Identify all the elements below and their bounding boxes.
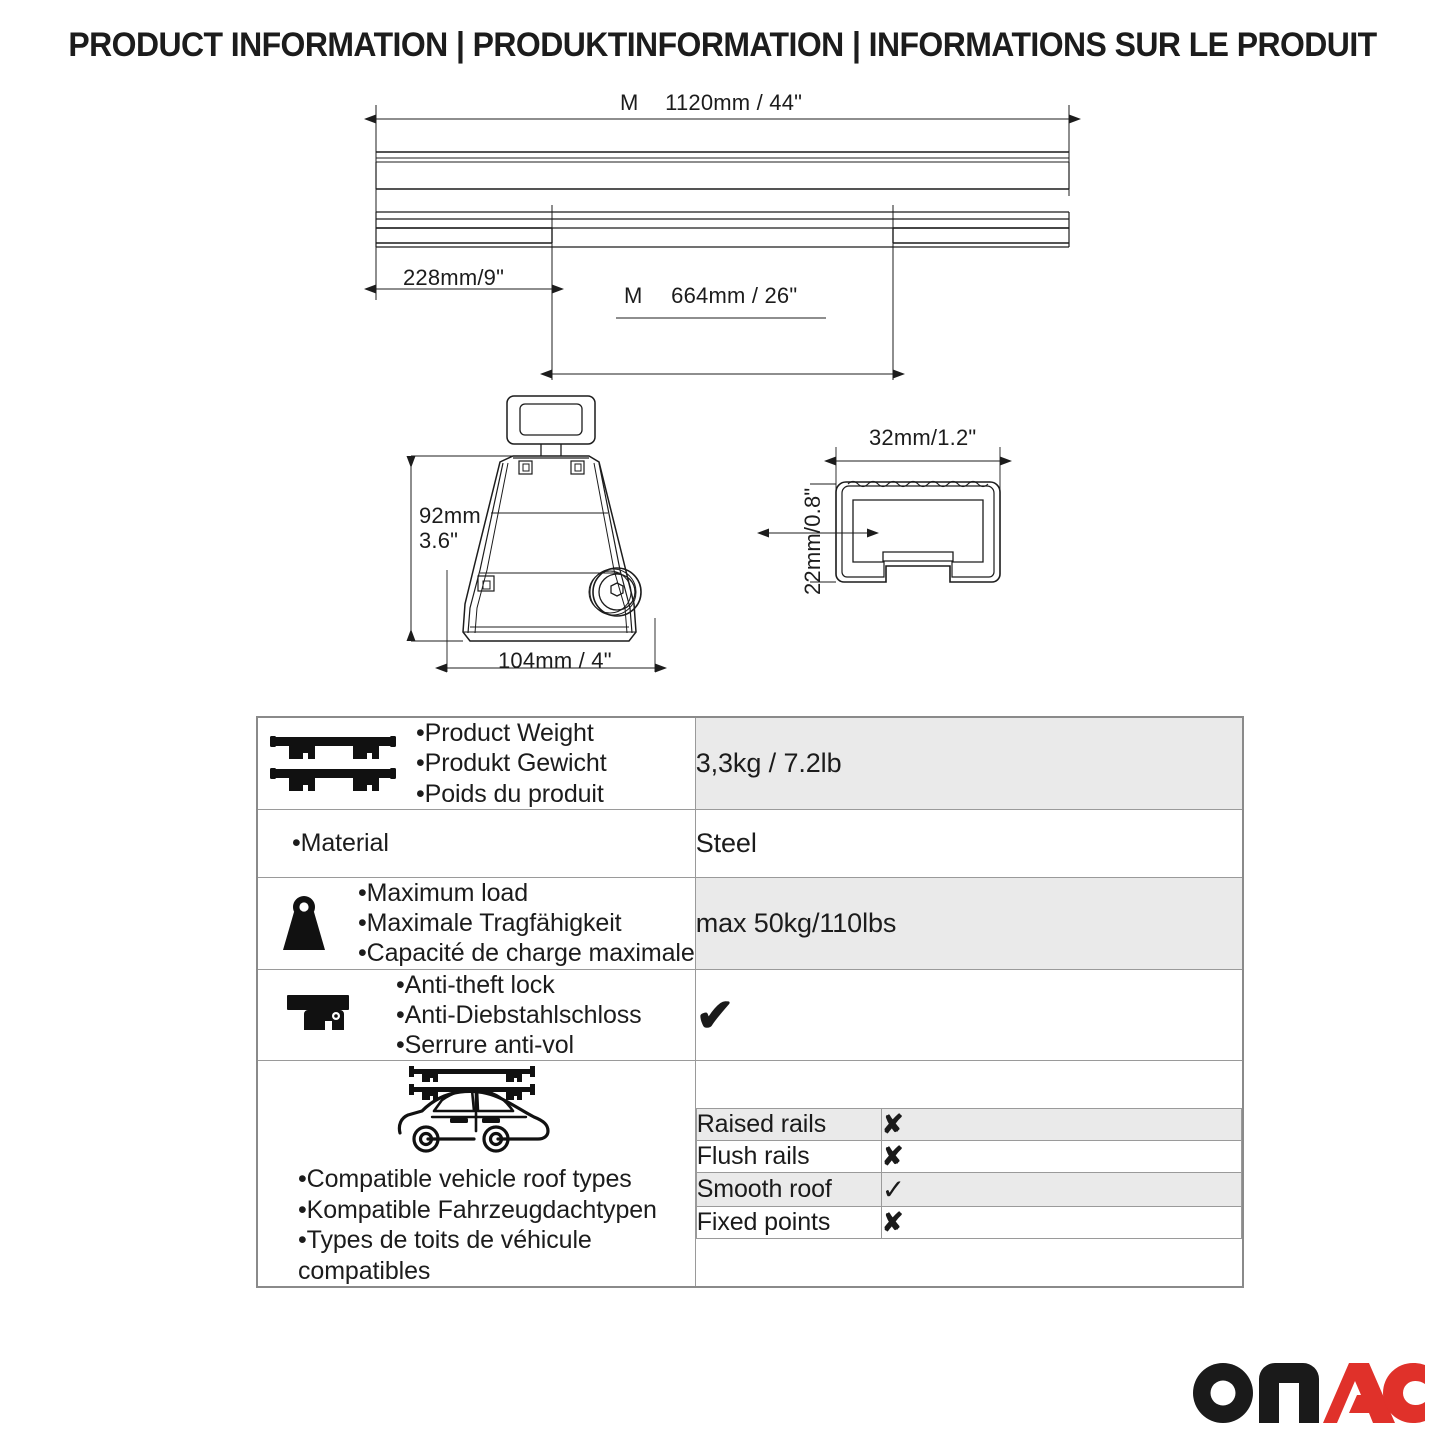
label-text-maximum-load: •Maximum load •Maximale Tragfähigkeit •C… (358, 878, 695, 969)
crossbars-icon (258, 732, 408, 794)
label-line-de: •Produkt Gewicht (416, 748, 607, 778)
table-row-material: •Material Steel (257, 809, 1243, 877)
label-text-material: •Material (258, 828, 695, 858)
label-line-en: •Product Weight (416, 718, 607, 748)
value-maximum-load: max 50kg/110lbs (695, 877, 1243, 969)
label-cell-roof-types: •Compatible vehicle roof types •Kompatib… (257, 1061, 695, 1288)
label-cell-anti-theft-lock: •Anti-theft lock •Anti-Diebstahlschloss … (257, 969, 695, 1061)
dim-label-overall-length: M 1120mm / 44" (620, 90, 802, 116)
label-cell-product-weight: •Product Weight •Produkt Gewicht •Poids … (257, 717, 695, 809)
label-cell-material: •Material (257, 809, 695, 877)
dim-prefix-m: M (620, 90, 639, 115)
roof-option-row: Flush rails ✘ (696, 1141, 1241, 1173)
table-row-product-weight: •Product Weight •Produkt Gewicht •Poids … (257, 717, 1243, 809)
dim-label-profile-height: 22mm/0.8" (800, 488, 826, 595)
roof-option-row: Raised rails ✘ (696, 1109, 1241, 1141)
roof-options-table: Raised rails ✘ Flush rails ✘ Smooth roof… (696, 1108, 1242, 1239)
car-with-rack-icon-svg (388, 1061, 564, 1157)
label-line-en: •Anti-theft lock (396, 970, 642, 1000)
lock-icon-svg (284, 989, 362, 1041)
dim-label-tower-height-in: 3.6" (419, 528, 458, 554)
roof-option-name: Flush rails (696, 1141, 881, 1173)
label-line-de: •Anti-Diebstahlschloss (396, 1000, 642, 1030)
roof-option-name: Fixed points (696, 1207, 881, 1239)
value-anti-theft-lock: ✔ (695, 969, 1243, 1061)
label-line-de: •Maximale Tragfähigkeit (358, 908, 695, 938)
roof-option-mark: ✘ (881, 1141, 1241, 1173)
label-text-anti-theft-lock: •Anti-theft lock •Anti-Diebstahlschloss … (396, 970, 642, 1061)
roof-option-row: Fixed points ✘ (696, 1207, 1241, 1239)
dim-label-tower-height-mm: 92mm (419, 503, 481, 529)
dim-prefix-m-2: M (624, 283, 643, 308)
crossbars-icon-svg (269, 732, 397, 794)
label-text-roof-types: •Compatible vehicle roof types •Kompatib… (258, 1164, 695, 1286)
label-line-material: •Material (292, 828, 695, 858)
table-row-anti-theft-lock: •Anti-theft lock •Anti-Diebstahlschloss … (257, 969, 1243, 1061)
label-text-product-weight: •Product Weight •Produkt Gewicht •Poids … (416, 718, 607, 809)
dim-value-foot-spacing: 664mm / 26" (671, 283, 797, 308)
lock-icon (258, 989, 388, 1041)
table-row-maximum-load: •Maximum load •Maximale Tragfähigkeit •C… (257, 877, 1243, 969)
label-line-en: •Maximum load (358, 878, 695, 908)
table-row-roof-types: •Compatible vehicle roof types •Kompatib… (257, 1061, 1243, 1288)
value-material: Steel (695, 809, 1243, 877)
logo-letter-m (1259, 1363, 1319, 1423)
product-spec-table: •Product Weight •Produkt Gewicht •Poids … (256, 716, 1244, 1288)
roof-option-mark: ✓ (881, 1173, 1241, 1207)
label-line-fr: •Poids du produit (416, 779, 607, 809)
dim-label-end-offset: 228mm/9" (403, 265, 504, 291)
label-line-fr: •Serrure anti-vol (396, 1030, 642, 1060)
roof-option-row: Smooth roof ✓ (696, 1173, 1241, 1207)
value-product-weight: 3,3kg / 7.2lb (695, 717, 1243, 809)
label-line-fr: •Types de toits de véhicule compatibles (298, 1225, 695, 1286)
dim-label-foot-spacing: M 664mm / 26" (624, 283, 797, 309)
dim-label-profile-width: 32mm/1.2" (869, 425, 976, 451)
roof-option-name: Smooth roof (696, 1173, 881, 1207)
dim-value-overall-length: 1120mm / 44" (665, 90, 802, 115)
roof-options-cell: Raised rails ✘ Flush rails ✘ Smooth roof… (695, 1061, 1243, 1288)
car-with-rack-icon (388, 1061, 564, 1162)
dim-label-tower-width: 104mm / 4" (498, 648, 612, 674)
weight-icon-svg (271, 892, 337, 954)
omac-logo-svg (1193, 1363, 1425, 1423)
label-line-en: •Compatible vehicle roof types (298, 1164, 695, 1195)
weight-icon (258, 892, 350, 954)
label-line-de: •Kompatible Fahrzeugdachtypen (298, 1195, 695, 1226)
label-cell-maximum-load: •Maximum load •Maximale Tragfähigkeit •C… (257, 877, 695, 969)
technical-drawing: M 1120mm / 44" 228mm/9" M 664mm / 26" 92… (0, 0, 1445, 710)
roof-option-mark: ✘ (881, 1207, 1241, 1239)
roof-option-mark: ✘ (881, 1109, 1241, 1141)
omac-logo (1193, 1363, 1425, 1423)
logo-letter-o (1193, 1363, 1253, 1423)
roof-option-name: Raised rails (696, 1109, 881, 1141)
label-line-fr: •Capacité de charge maximale (358, 938, 695, 968)
